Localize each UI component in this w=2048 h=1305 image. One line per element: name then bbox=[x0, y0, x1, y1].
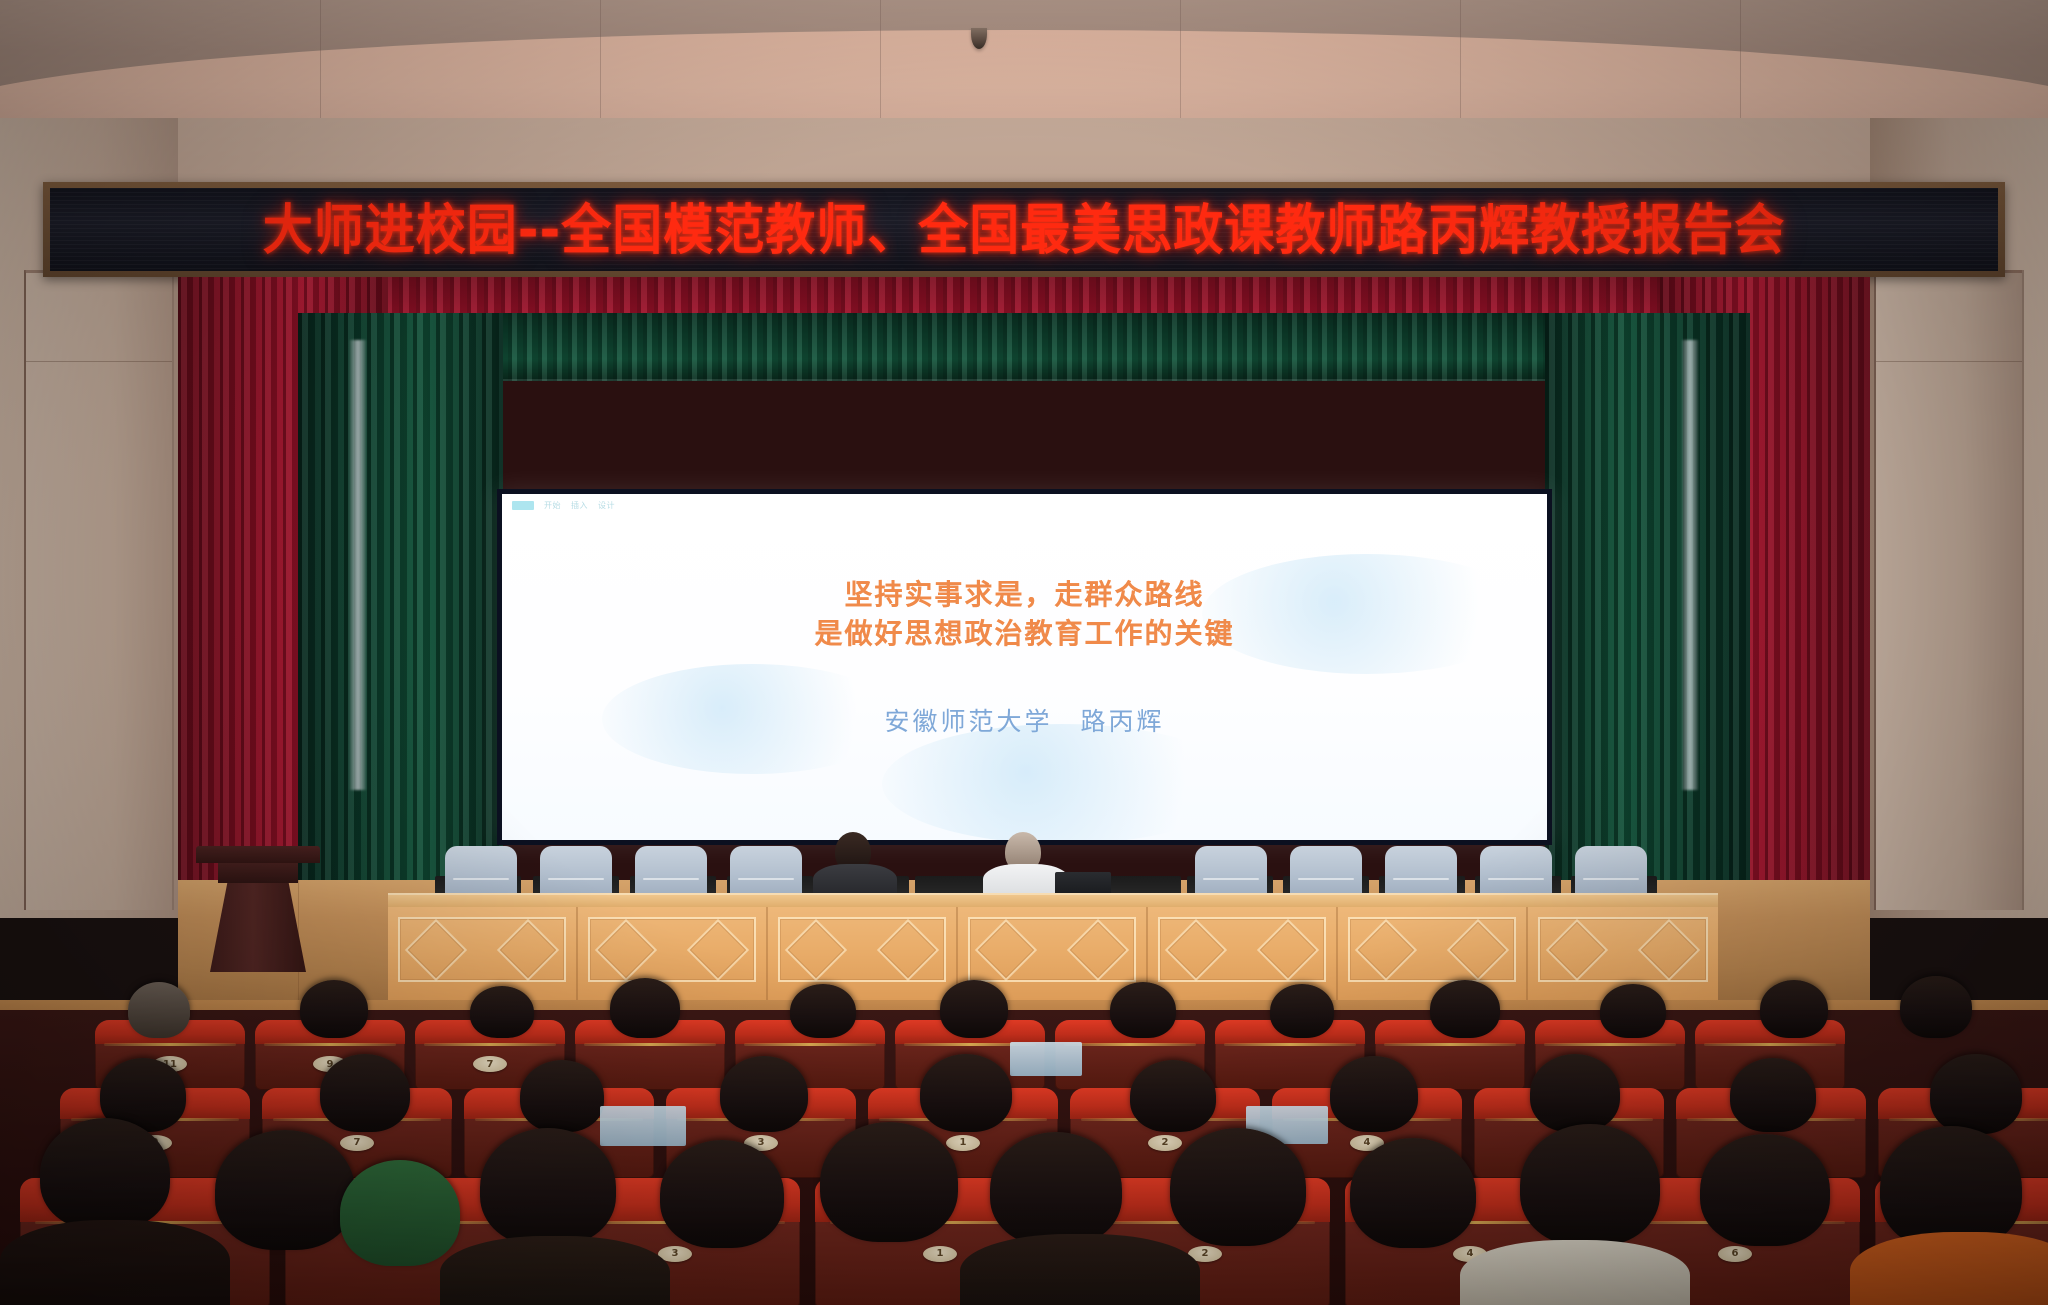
audience-head bbox=[990, 1132, 1122, 1246]
audience-head bbox=[720, 1056, 808, 1132]
audience-head bbox=[320, 1054, 410, 1132]
seat-number: 1 bbox=[923, 1246, 957, 1262]
table-panel bbox=[1338, 907, 1528, 1000]
led-banner: 大师进校园--全国模范教师、全国最美思政课教师路丙辉教授报告会 bbox=[43, 182, 2005, 277]
curtain-gap-light-left bbox=[350, 340, 366, 790]
audience-head bbox=[1930, 1054, 2022, 1134]
podium-top bbox=[196, 846, 320, 863]
audience-shoulders-light bbox=[1460, 1240, 1690, 1305]
audience-head bbox=[1520, 1124, 1660, 1246]
head-table-chair bbox=[635, 846, 707, 898]
audience-head-cap bbox=[340, 1160, 460, 1266]
curtain-gap-light-right bbox=[1682, 340, 1698, 790]
head-table-chair bbox=[1480, 846, 1552, 898]
audience-head bbox=[1330, 1056, 1418, 1132]
head-table-chair bbox=[540, 846, 612, 898]
audience-head bbox=[1170, 1128, 1306, 1246]
audience-head bbox=[1530, 1054, 1620, 1132]
table-panel bbox=[768, 907, 958, 1000]
audience-seating: 11 9 7 bbox=[0, 1010, 2048, 1305]
curtain-valance-green bbox=[298, 313, 1750, 381]
podium-lectern bbox=[196, 846, 320, 972]
audience-head bbox=[1430, 980, 1500, 1038]
audience-head bbox=[940, 980, 1008, 1038]
seat-number: 7 bbox=[340, 1135, 374, 1151]
audience-head bbox=[660, 1140, 784, 1248]
projection-screen[interactable]: 开始 插入 设计 坚持实事求是，走群众路线 是做好思想政治教育工作的关键 安徽师… bbox=[502, 494, 1547, 840]
head-table-chair bbox=[1385, 846, 1457, 898]
projection-screen-frame: 开始 插入 设计 坚持实事求是，走群众路线 是做好思想政治教育工作的关键 安徽师… bbox=[497, 489, 1552, 845]
audience-head bbox=[820, 1122, 958, 1242]
table-panel bbox=[388, 907, 578, 1000]
audience-head bbox=[1700, 1134, 1830, 1246]
head-table-chairs bbox=[445, 846, 1675, 900]
audience-head bbox=[920, 1054, 1012, 1132]
toolbar-item-0[interactable]: 开始 bbox=[544, 500, 561, 511]
head-table bbox=[388, 893, 1718, 1000]
audience-laptop bbox=[1010, 1042, 1082, 1076]
head-table-top bbox=[388, 893, 1718, 907]
audience-head bbox=[300, 980, 368, 1038]
audience-head bbox=[480, 1128, 616, 1246]
podium-neck bbox=[218, 863, 298, 883]
head-table-chair bbox=[1195, 846, 1267, 898]
audience-head bbox=[215, 1130, 355, 1250]
head-table-chair bbox=[1290, 846, 1362, 898]
wall-panel-right bbox=[1874, 270, 2024, 910]
audience-head bbox=[1730, 1058, 1816, 1132]
seat-number: 2 bbox=[1148, 1135, 1182, 1151]
wall-panel-left bbox=[24, 270, 174, 910]
head-table-chair bbox=[730, 846, 802, 898]
audience-head bbox=[610, 978, 680, 1038]
curtain-green-right bbox=[1545, 313, 1750, 925]
audience-head bbox=[1270, 984, 1334, 1038]
audience-head bbox=[40, 1118, 170, 1230]
audience-shoulders-orange bbox=[1850, 1232, 2048, 1305]
audience-head bbox=[1110, 982, 1176, 1038]
audience-head bbox=[1900, 976, 1972, 1038]
audience-head bbox=[128, 982, 190, 1038]
audience-shoulders bbox=[0, 1220, 230, 1305]
ceiling bbox=[0, 0, 2048, 128]
table-panel bbox=[578, 907, 768, 1000]
slide-title-line-1: 坚持实事求是，走群众路线 bbox=[502, 576, 1547, 615]
audience-head bbox=[470, 986, 534, 1038]
toolbar-item-1[interactable]: 插入 bbox=[571, 500, 588, 511]
cloud-graphic-bottom bbox=[882, 724, 1242, 840]
audience-laptop bbox=[600, 1106, 686, 1146]
audience-head bbox=[1350, 1138, 1476, 1248]
curtain-green-left bbox=[298, 313, 503, 925]
head-table-chair bbox=[445, 846, 517, 898]
seat-number: 7 bbox=[473, 1056, 507, 1072]
seat-number: 6 bbox=[1718, 1246, 1752, 1262]
seat-number: 1 bbox=[946, 1135, 980, 1151]
app-logo-icon bbox=[512, 501, 534, 510]
podium-body bbox=[210, 883, 306, 972]
auditorium-scene: 大师进校园--全国模范教师、全国最美思政课教师路丙辉教授报告会 开始 插入 设计… bbox=[0, 0, 2048, 1305]
slide-title-line-2: 是做好思想政治教育工作的关键 bbox=[502, 615, 1547, 654]
audience-shoulders bbox=[440, 1236, 670, 1305]
banner-title-text: 大师进校园--全国模范教师、全国最美思政课教师路丙辉教授报告会 bbox=[263, 203, 1786, 257]
audience-shoulders bbox=[960, 1234, 1200, 1305]
toolbar-item-2[interactable]: 设计 bbox=[598, 500, 615, 511]
slide-subtitle: 安徽师范大学 路丙辉 bbox=[502, 702, 1547, 738]
audience-head bbox=[520, 1060, 604, 1132]
audience-head bbox=[1760, 980, 1828, 1038]
slide-title: 坚持实事求是，走群众路线 是做好思想政治教育工作的关键 bbox=[502, 576, 1547, 653]
audience-head bbox=[1600, 984, 1666, 1038]
led-banner-screen: 大师进校园--全国模范教师、全国最美思政课教师路丙辉教授报告会 bbox=[50, 188, 1998, 271]
audience-head bbox=[1130, 1060, 1216, 1132]
head-table-chair bbox=[1575, 846, 1647, 898]
slide-app-toolbar[interactable]: 开始 插入 设计 bbox=[512, 500, 615, 511]
audience-head bbox=[790, 984, 856, 1038]
